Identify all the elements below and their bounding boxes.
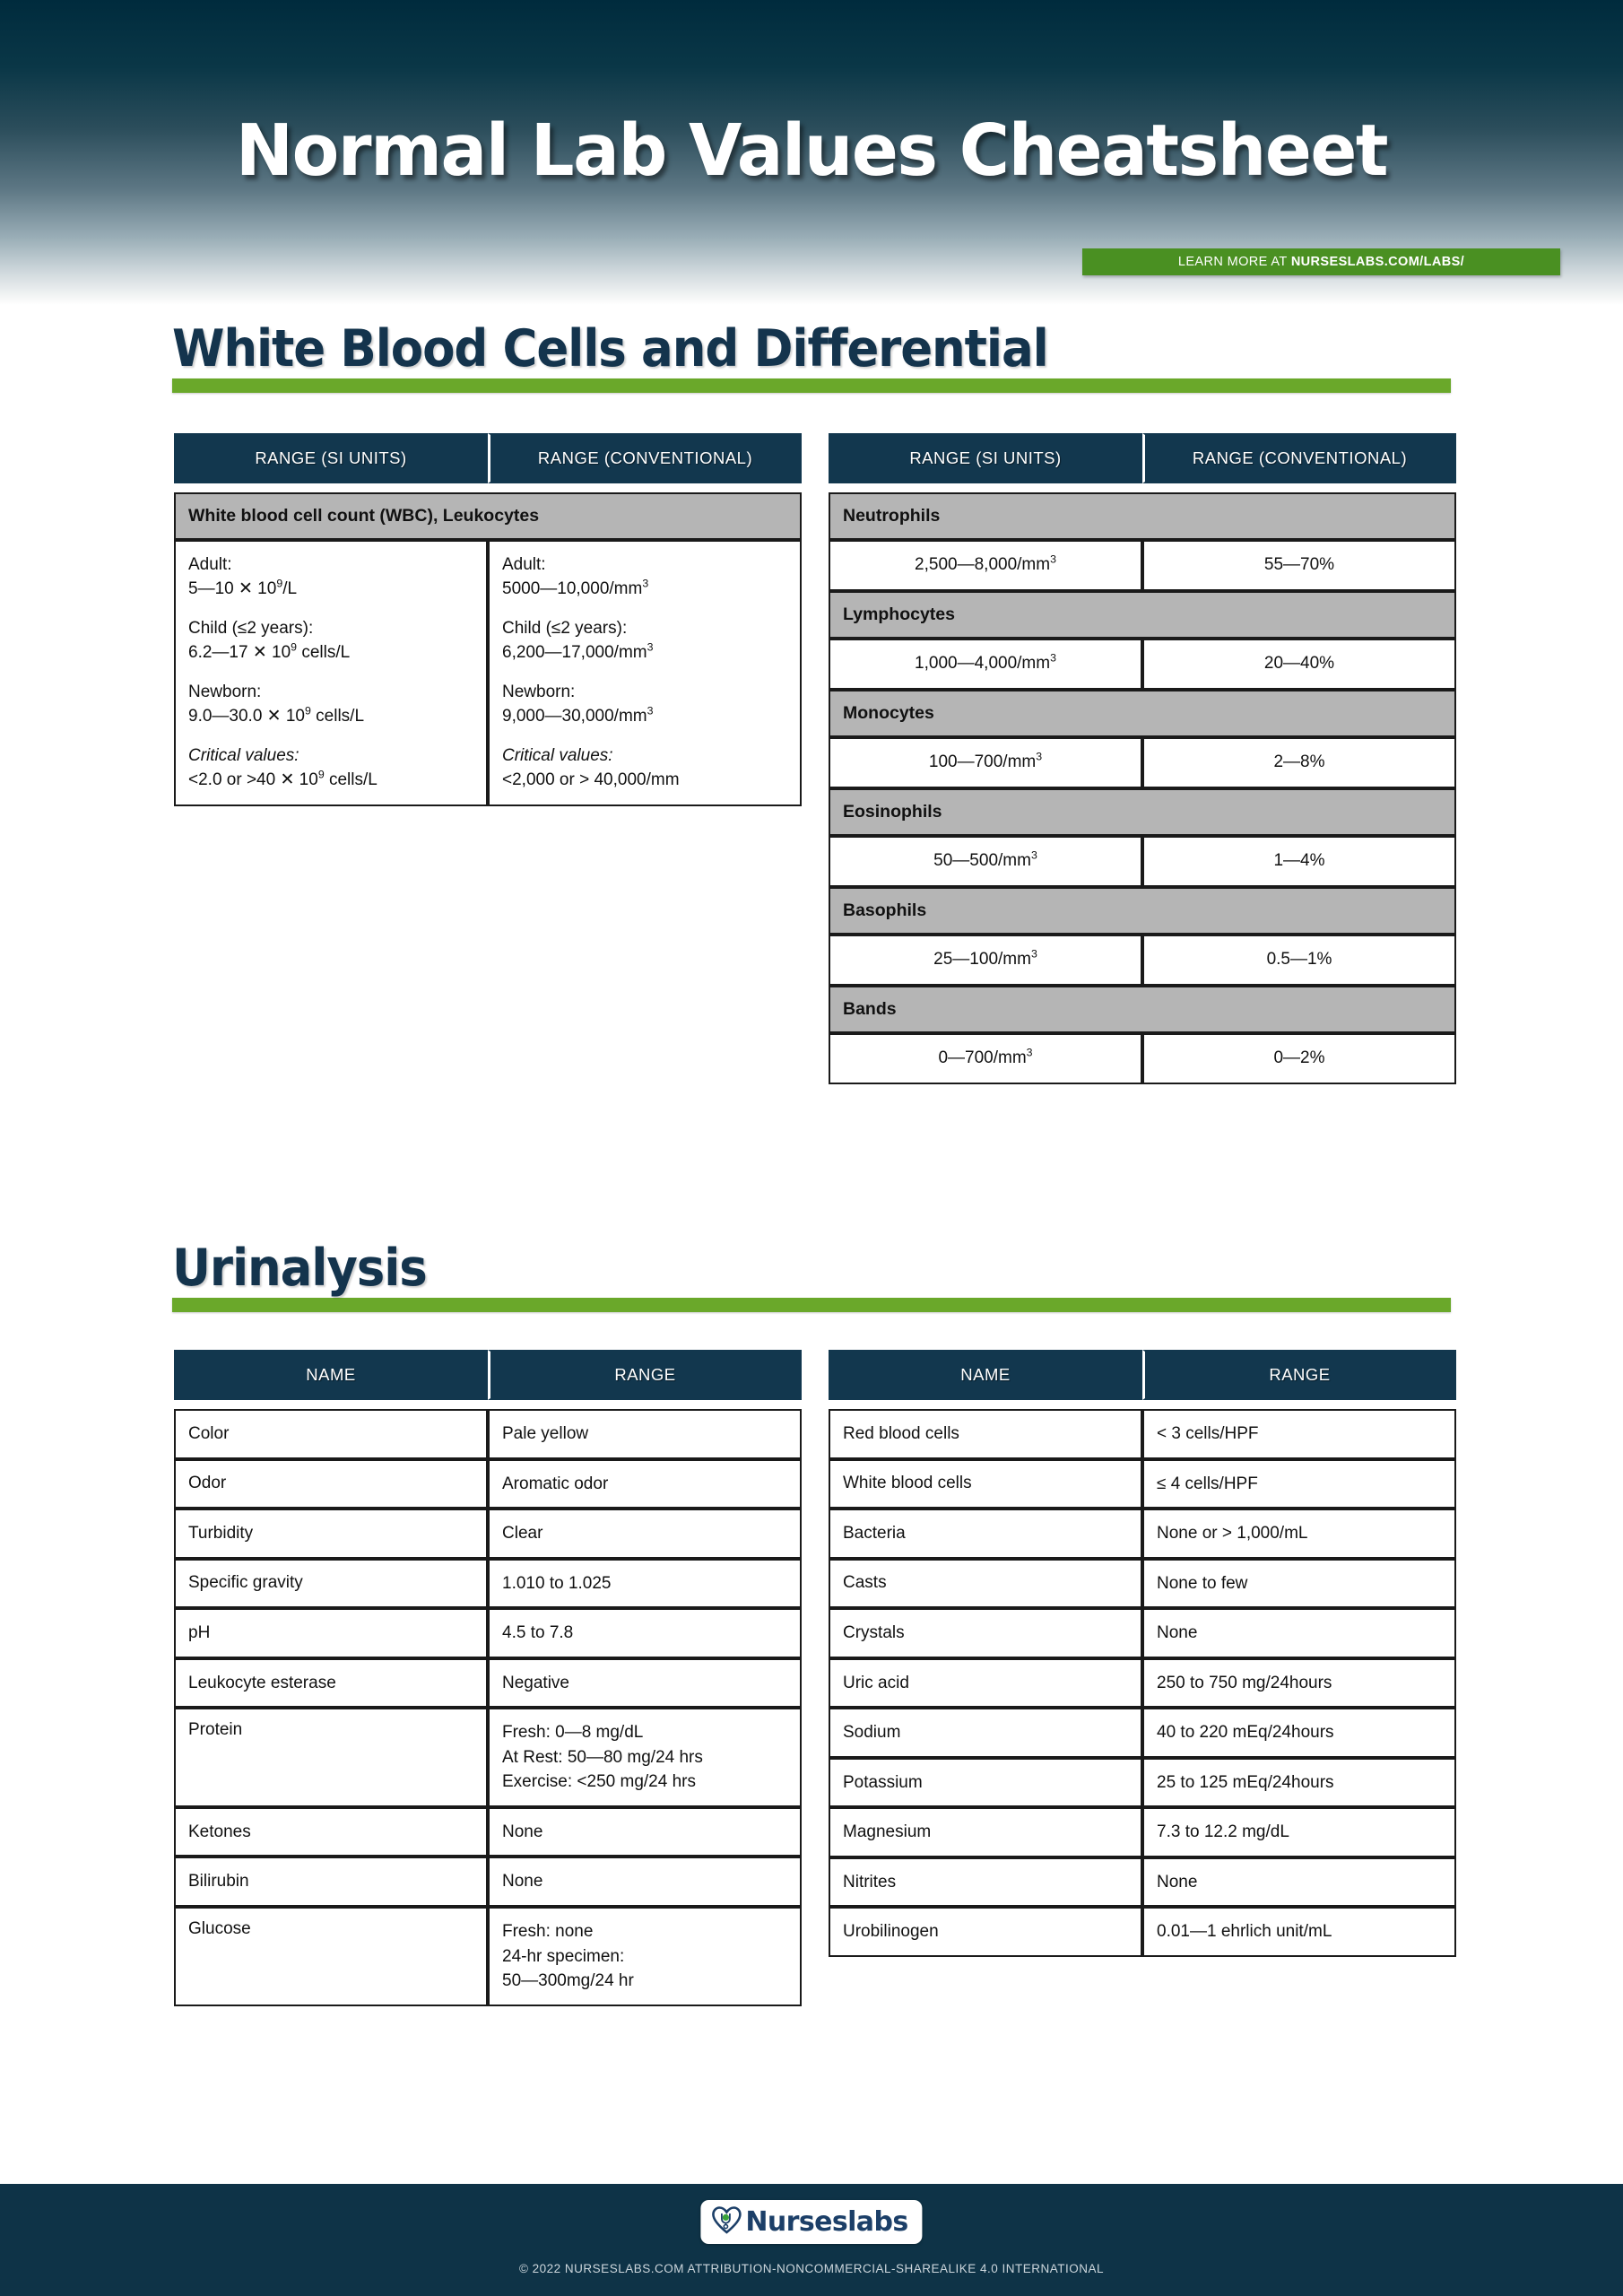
value-line: < 3 cells/HPF: [1157, 1422, 1442, 1447]
urinalysis-name: pH: [174, 1608, 488, 1658]
value-line: 4.5 to 7.8: [502, 1621, 787, 1646]
urinalysis-name: Casts: [829, 1559, 1142, 1609]
urinalysis-range: None to few: [1142, 1559, 1456, 1609]
column-header-si: RANGE (SI UNITS): [829, 433, 1142, 483]
table-row: 0—700/mm30—2%: [829, 1033, 1456, 1084]
urinalysis-range: 1.010 to 1.025: [488, 1559, 802, 1609]
urinalysis-range: ≤ 4 cells/HPF: [1142, 1459, 1456, 1509]
urinalysis-range: 0.01—1 ehrlich unit/mL: [1142, 1907, 1456, 1957]
table-row: CastsNone to few: [829, 1559, 1456, 1609]
value-line: 250 to 750 mg/24hours: [1157, 1671, 1442, 1696]
urinalysis-name: Glucose: [174, 1907, 488, 2006]
learn-more-label: LEARN MORE AT NURSESLABS.COM/LABS/: [1178, 255, 1464, 269]
table-row: BilirubinNone: [174, 1857, 802, 1907]
urinalysis-range: 7.3 to 12.2 mg/dL: [1142, 1807, 1456, 1857]
column-header-range: RANGE: [1142, 1350, 1456, 1400]
urinalysis-range: Aromatic odor: [488, 1459, 802, 1509]
value-line: <2.0 or >40 ✕ 109 cells/L: [188, 769, 473, 793]
value-line: <2,000 or > 40,000/mm: [502, 769, 787, 793]
table-row: NitritesNone: [829, 1857, 1456, 1908]
value-line: 40 to 220 mEq/24hours: [1157, 1720, 1442, 1745]
urinalysis-name: Specific gravity: [174, 1559, 488, 1609]
page-footer: Nurseslabs © 2022 NURSESLABS.COM ATTRIBU…: [0, 2184, 1623, 2296]
wbc-count-body-table: White blood cell count (WBC), Leukocytes…: [174, 492, 802, 806]
urinalysis-name: Bacteria: [829, 1509, 1142, 1559]
urinalysis-left-table-wrap: NAME RANGE ColorPale yellowOdorAromatic …: [174, 1350, 802, 2006]
table-row: ColorPale yellow: [174, 1409, 802, 1459]
table-header-row: RANGE (SI UNITS) RANGE (CONVENTIONAL): [829, 433, 1456, 483]
section-rule-wbc: [172, 378, 1451, 393]
wbc-differential-table-wrap: RANGE (SI UNITS) RANGE (CONVENTIONAL) Ne…: [829, 433, 1456, 1084]
table-row: 50—500/mm31—4%: [829, 836, 1456, 887]
urinalysis-range: Negative: [488, 1658, 802, 1709]
value-line: 9,000—30,000/mm3: [502, 705, 787, 729]
section-title-urinalysis: Urinalysis: [172, 1242, 1361, 1294]
urinalysis-range: None: [488, 1807, 802, 1857]
table-row: Red blood cells< 3 cells/HPF: [829, 1409, 1456, 1459]
value-line: 9.0—30.0 ✕ 109 cells/L: [188, 705, 473, 729]
table-section-row: White blood cell count (WBC), Leukocytes: [174, 492, 802, 540]
section-header-urinalysis: Urinalysis: [172, 1242, 1451, 1312]
value-line: Critical values:: [188, 744, 473, 769]
differential-label: Monocytes: [829, 690, 1456, 737]
header-gap: [829, 483, 1456, 492]
urinalysis-name: Protein: [174, 1708, 488, 1807]
urinalysis-name: White blood cells: [829, 1459, 1142, 1509]
table-row: GlucoseFresh: none24-hr specimen:50—300m…: [174, 1907, 802, 2006]
column-header-si: RANGE (SI UNITS): [174, 433, 488, 483]
urinalysis-name: Color: [174, 1409, 488, 1459]
value-line: 50—300mg/24 hr: [502, 1969, 787, 1994]
urinalysis-range: 250 to 750 mg/24hours: [1142, 1658, 1456, 1709]
urinalysis-name: Ketones: [174, 1807, 488, 1857]
value-line: Child (≤2 years):: [188, 617, 473, 641]
column-header-name: NAME: [174, 1350, 488, 1400]
nurseslabs-logo[interactable]: Nurseslabs: [700, 2200, 922, 2244]
differential-label: Neutrophils: [829, 492, 1456, 540]
value-line: Adult:: [502, 553, 787, 578]
urinalysis-right-table-wrap: NAME RANGE Red blood cells< 3 cells/HPFW…: [829, 1350, 1456, 1957]
urinalysis-range: None or > 1,000/mL: [1142, 1509, 1456, 1559]
differential-label: Bands: [829, 986, 1456, 1033]
value-line: Newborn:: [188, 681, 473, 705]
wbc-conv-values: Adult:5000—10,000/mm3Child (≤2 years):6,…: [488, 540, 802, 806]
header-gap: [829, 1400, 1456, 1409]
wbc-si-values: Adult:5—10 ✕ 109/LChild (≤2 years):6.2—1…: [174, 540, 488, 806]
value-line: 25 to 125 mEq/24hours: [1157, 1770, 1442, 1796]
column-header-range: RANGE: [488, 1350, 802, 1400]
urinalysis-name: Magnesium: [829, 1807, 1142, 1857]
table-row: OdorAromatic odor: [174, 1459, 802, 1509]
wbc-count-table-wrap: RANGE (SI UNITS) RANGE (CONVENTIONAL) Wh…: [174, 433, 802, 806]
table-row: Leukocyte esteraseNegative: [174, 1658, 802, 1709]
spacer: [502, 665, 787, 681]
differential-conv-value: 0.5—1%: [1142, 935, 1456, 986]
urinalysis-range: Fresh: none24-hr specimen:50—300mg/24 hr: [488, 1907, 802, 2006]
value-line: Adult:: [188, 553, 473, 578]
value-line: Negative: [502, 1671, 787, 1696]
copyright-text: © 2022 NURSESLABS.COM ATTRIBUTION-NONCOM…: [0, 2262, 1623, 2275]
urinalysis-name: Crystals: [829, 1608, 1142, 1658]
urinalysis-name: Potassium: [829, 1758, 1142, 1808]
table-header-row: NAME RANGE: [829, 1350, 1456, 1400]
table-row: 100—700/mm32—8%: [829, 737, 1456, 788]
urinalysis-range: 40 to 220 mEq/24hours: [1142, 1708, 1456, 1758]
urinalysis-right-header-table: NAME RANGE: [829, 1350, 1456, 1400]
differential-si-value: 25—100/mm3: [829, 935, 1142, 986]
urinalysis-range: None: [1142, 1608, 1456, 1658]
differential-si-value: 2,500—8,000/mm3: [829, 540, 1142, 591]
value-line: 7.3 to 12.2 mg/dL: [1157, 1820, 1442, 1845]
value-line: 6.2—17 ✕ 109 cells/L: [188, 641, 473, 665]
learn-more-prefix: LEARN MORE AT: [1178, 255, 1291, 269]
value-line: None to few: [1157, 1571, 1442, 1596]
column-header-conventional: RANGE (CONVENTIONAL): [488, 433, 802, 483]
table-row: ProteinFresh: 0—8 mg/dLAt Rest: 50—80 mg…: [174, 1708, 802, 1807]
differential-conv-value: 0—2%: [1142, 1033, 1456, 1084]
urinalysis-left-body-table: ColorPale yellowOdorAromatic odorTurbidi…: [174, 1409, 802, 2006]
urinalysis-range: < 3 cells/HPF: [1142, 1409, 1456, 1459]
differential-body-table: Neutrophils2,500—8,000/mm355—70%Lymphocy…: [829, 492, 1456, 1084]
value-line: 5000—10,000/mm3: [502, 578, 787, 602]
urinalysis-range: Clear: [488, 1509, 802, 1559]
table-row: CrystalsNone: [829, 1608, 1456, 1658]
table-row: BacteriaNone or > 1,000/mL: [829, 1509, 1456, 1559]
differential-label: Lymphocytes: [829, 591, 1456, 639]
value-line: 5—10 ✕ 109/L: [188, 578, 473, 602]
wbc-count-header-table: RANGE (SI UNITS) RANGE (CONVENTIONAL): [174, 433, 802, 483]
learn-more-url: NURSESLABS.COM/LABS/: [1291, 255, 1464, 269]
differential-si-value: 50—500/mm3: [829, 836, 1142, 887]
urinalysis-name: Uric acid: [829, 1658, 1142, 1709]
value-line: At Rest: 50—80 mg/24 hrs: [502, 1745, 787, 1770]
urinalysis-range: Fresh: 0—8 mg/dLAt Rest: 50—80 mg/24 hrs…: [488, 1708, 802, 1807]
table-row: pH4.5 to 7.8: [174, 1608, 802, 1658]
urinalysis-range: None: [488, 1857, 802, 1907]
differential-label: Basophils: [829, 887, 1456, 935]
value-line: None: [1157, 1870, 1442, 1895]
urinalysis-range: 25 to 125 mEq/24hours: [1142, 1758, 1456, 1808]
value-line: 24-hr specimen:: [502, 1944, 787, 1970]
wbc-section-label: White blood cell count (WBC), Leukocytes: [174, 492, 802, 540]
table-row: 2,500—8,000/mm355—70%: [829, 540, 1456, 591]
table-section-row: Bands: [829, 986, 1456, 1033]
section-rule-urinalysis: [172, 1298, 1451, 1312]
spacer: [188, 665, 473, 681]
value-line: Fresh: 0—8 mg/dL: [502, 1720, 787, 1745]
urinalysis-name: Bilirubin: [174, 1857, 488, 1907]
urinalysis-right-body-table: Red blood cells< 3 cells/HPFWhite blood …: [829, 1409, 1456, 1957]
table-row: Potassium25 to 125 mEq/24hours: [829, 1758, 1456, 1808]
urinalysis-range: 4.5 to 7.8: [488, 1608, 802, 1658]
value-line: None or > 1,000/mL: [1157, 1521, 1442, 1546]
differential-conv-value: 1—4%: [1142, 836, 1456, 887]
urinalysis-name: Leukocyte esterase: [174, 1658, 488, 1709]
section-header-wbc: White Blood Cells and Differential: [172, 323, 1451, 393]
table-row: KetonesNone: [174, 1807, 802, 1857]
urinalysis-name: Urobilinogen: [829, 1907, 1142, 1957]
urinalysis-name: Turbidity: [174, 1509, 488, 1559]
value-line: Child (≤2 years):: [502, 617, 787, 641]
value-line: Exercise: <250 mg/24 hrs: [502, 1770, 787, 1795]
value-line: 0.01—1 ehrlich unit/mL: [1157, 1919, 1442, 1944]
table-row: TurbidityClear: [174, 1509, 802, 1559]
urinalysis-name: Odor: [174, 1459, 488, 1509]
table-section-row: Eosinophils: [829, 788, 1456, 836]
spacer: [502, 602, 787, 617]
differential-conv-value: 20—40%: [1142, 639, 1456, 690]
table-row: 25—100/mm30.5—1%: [829, 935, 1456, 986]
value-line: Clear: [502, 1521, 787, 1546]
learn-more-banner[interactable]: LEARN MORE AT NURSESLABS.COM/LABS/: [1082, 248, 1560, 275]
table-row: Adult:5—10 ✕ 109/LChild (≤2 years):6.2—1…: [174, 540, 802, 806]
table-row: Uric acid250 to 750 mg/24hours: [829, 1658, 1456, 1709]
urinalysis-range: Pale yellow: [488, 1409, 802, 1459]
differential-header-table: RANGE (SI UNITS) RANGE (CONVENTIONAL): [829, 433, 1456, 483]
table-section-row: Lymphocytes: [829, 591, 1456, 639]
differential-label: Eosinophils: [829, 788, 1456, 836]
table-section-row: Monocytes: [829, 690, 1456, 737]
table-header-row: NAME RANGE: [174, 1350, 802, 1400]
heart-stethoscope-icon: [711, 2205, 742, 2239]
urinalysis-name: Red blood cells: [829, 1409, 1142, 1459]
value-line: Critical values:: [502, 744, 787, 769]
column-header-name: NAME: [829, 1350, 1142, 1400]
column-header-conventional: RANGE (CONVENTIONAL): [1142, 433, 1456, 483]
value-line: None: [502, 1820, 787, 1845]
differential-si-value: 100—700/mm3: [829, 737, 1142, 788]
spacer: [188, 602, 473, 617]
value-line: Newborn:: [502, 681, 787, 705]
table-row: White blood cells≤ 4 cells/HPF: [829, 1459, 1456, 1509]
spacer: [502, 729, 787, 744]
differential-conv-value: 55—70%: [1142, 540, 1456, 591]
table-row: Urobilinogen0.01—1 ehrlich unit/mL: [829, 1907, 1456, 1957]
header-gap: [174, 483, 802, 492]
value-line: 1.010 to 1.025: [502, 1571, 787, 1596]
value-line: Aromatic odor: [502, 1472, 787, 1497]
urinalysis-range: None: [1142, 1857, 1456, 1908]
value-line: None: [502, 1869, 787, 1894]
table-row: 1,000—4,000/mm320—40%: [829, 639, 1456, 690]
value-line: Pale yellow: [502, 1422, 787, 1447]
urinalysis-left-header-table: NAME RANGE: [174, 1350, 802, 1400]
table-header-row: RANGE (SI UNITS) RANGE (CONVENTIONAL): [174, 433, 802, 483]
cheatsheet-page: Normal Lab Values Cheatsheet LEARN MORE …: [0, 0, 1623, 2296]
value-line: 6,200—17,000/mm3: [502, 641, 787, 665]
value-line: Fresh: none: [502, 1919, 787, 1944]
table-row: Sodium40 to 220 mEq/24hours: [829, 1708, 1456, 1758]
table-row: Magnesium7.3 to 12.2 mg/dL: [829, 1807, 1456, 1857]
spacer: [188, 729, 473, 744]
differential-si-value: 1,000—4,000/mm3: [829, 639, 1142, 690]
brand-name: Nurseslabs: [745, 2206, 907, 2238]
value-line: None: [1157, 1621, 1442, 1646]
header-gap: [174, 1400, 802, 1409]
differential-conv-value: 2—8%: [1142, 737, 1456, 788]
table-row: Specific gravity1.010 to 1.025: [174, 1559, 802, 1609]
table-section-row: Basophils: [829, 887, 1456, 935]
table-section-row: Neutrophils: [829, 492, 1456, 540]
differential-si-value: 0—700/mm3: [829, 1033, 1142, 1084]
urinalysis-name: Sodium: [829, 1708, 1142, 1758]
section-title-wbc: White Blood Cells and Differential: [172, 323, 1361, 375]
urinalysis-name: Nitrites: [829, 1857, 1142, 1908]
page-title: Normal Lab Values Cheatsheet: [24, 109, 1599, 192]
value-line: ≤ 4 cells/HPF: [1157, 1472, 1442, 1497]
